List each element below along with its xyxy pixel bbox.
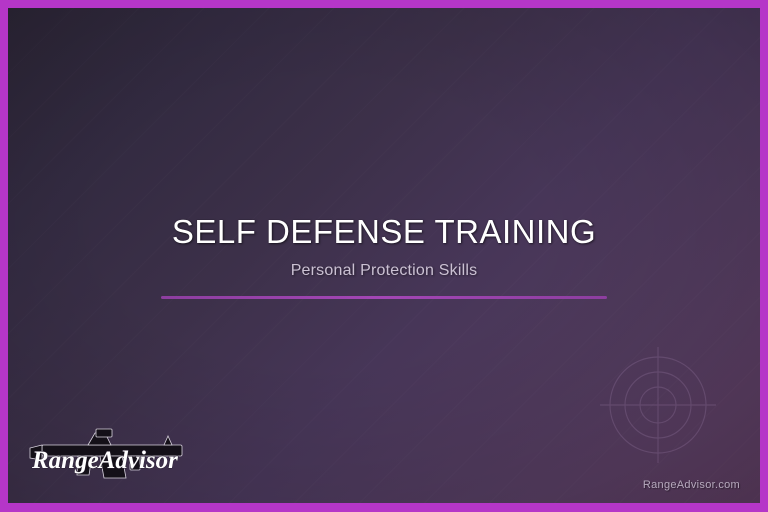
page-subtitle: Personal Protection Skills [8, 262, 760, 280]
title-divider [161, 296, 607, 299]
brand-logo: RangeAdvisor [26, 421, 201, 487]
footer-url: RangeAdvisor.com [643, 479, 740, 491]
presentation-slide: SELF DEFENSE TRAINING Personal Protectio… [0, 0, 768, 512]
title-block: SELF DEFENSE TRAINING Personal Protectio… [8, 213, 760, 299]
page-title: SELF DEFENSE TRAINING [8, 213, 760, 252]
brand-logo-text: RangeAdvisor [31, 447, 178, 474]
